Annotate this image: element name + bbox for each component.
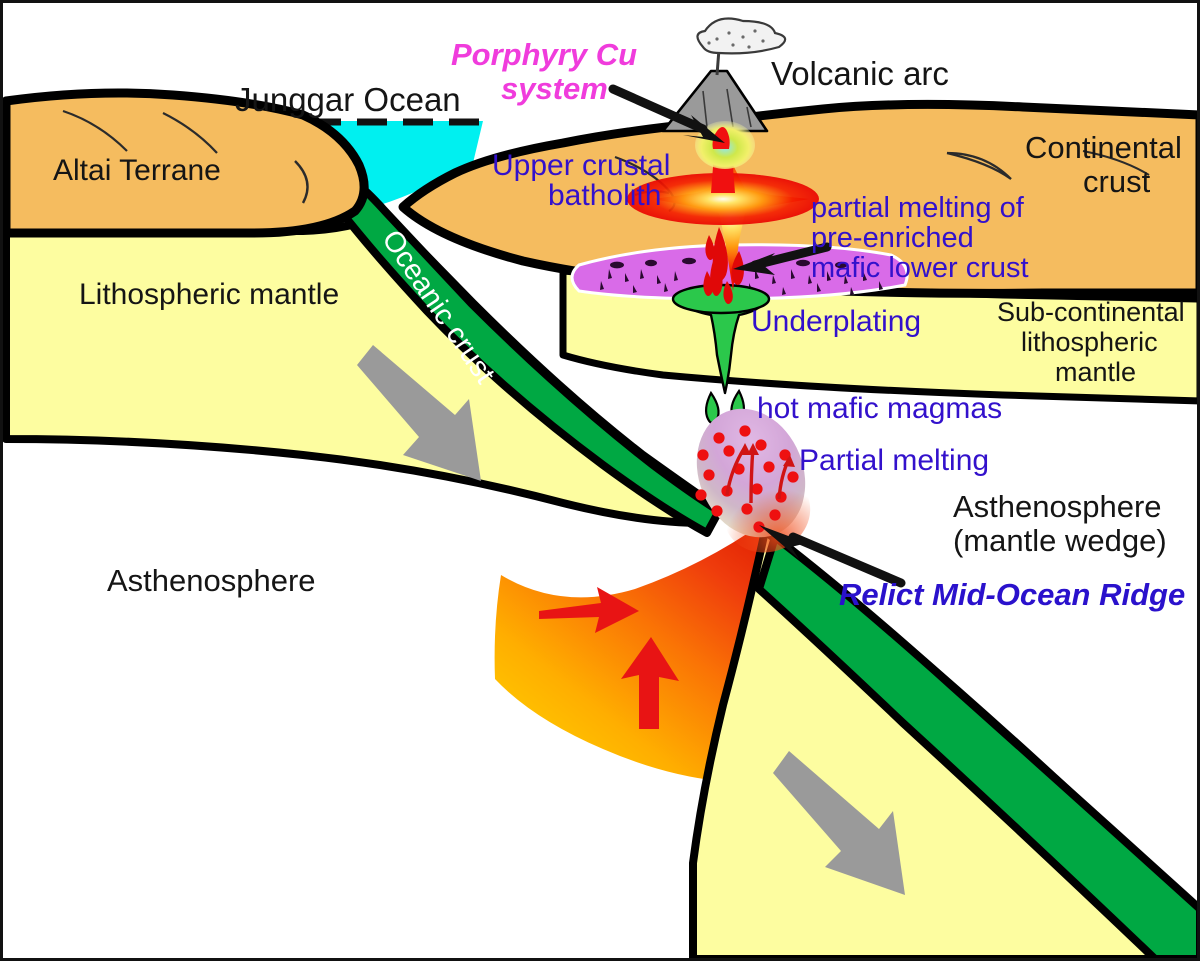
label-underplating: Underplating: [751, 306, 921, 338]
cross-section-svg: [3, 3, 1200, 961]
label-junggar-ocean: Junggar Ocean: [235, 83, 461, 118]
label-partial-melting-pre-enriched-line1: partial melting of: [811, 193, 1024, 224]
label-altai-terrane: Altai Terrane: [53, 155, 221, 187]
label-asthenosphere-mantle-wedge-line1: Asthenosphere: [953, 491, 1162, 524]
label-asthenosphere: Asthenosphere: [107, 565, 316, 598]
label-partial-melting-pre-enriched-line2: pre-enriched: [811, 223, 974, 254]
label-partial-melting-pre-enriched-line3: mafic lower crust: [811, 253, 1029, 284]
label-lithospheric-mantle: Lithospheric mantle: [79, 279, 339, 311]
label-sub-continental-lithospheric-mantle-line1: Sub-continental: [997, 298, 1185, 327]
label-relict-mid-ocean-ridge: Relict Mid-Ocean Ridge: [839, 579, 1185, 612]
label-asthenosphere-mantle-wedge-line2: (mantle wedge): [953, 525, 1167, 558]
label-hot-mafic-magmas: hot mafic magmas: [757, 393, 1002, 425]
label-continental-crust-line2: crust: [1083, 166, 1150, 199]
label-continental-crust-line1: Continental: [1025, 132, 1182, 165]
label-porphyry-cu-system-line1: Porphyry Cu: [451, 39, 637, 72]
label-sub-continental-lithospheric-mantle-line2: lithospheric: [1021, 328, 1158, 357]
label-partial-melting: Partial melting: [799, 445, 989, 477]
label-porphyry-cu-system-line2: system: [501, 73, 608, 106]
label-volcanic-arc: Volcanic arc: [771, 57, 949, 92]
label-upper-crustal-batholith-line1: Upper crustal: [492, 150, 670, 182]
label-upper-crustal-batholith-line2: batholith: [548, 180, 661, 212]
label-sub-continental-lithospheric-mantle-line3: mantle: [1055, 358, 1136, 387]
diagram-canvas: Junggar Ocean Porphyry Cu system Volcani…: [0, 0, 1200, 961]
